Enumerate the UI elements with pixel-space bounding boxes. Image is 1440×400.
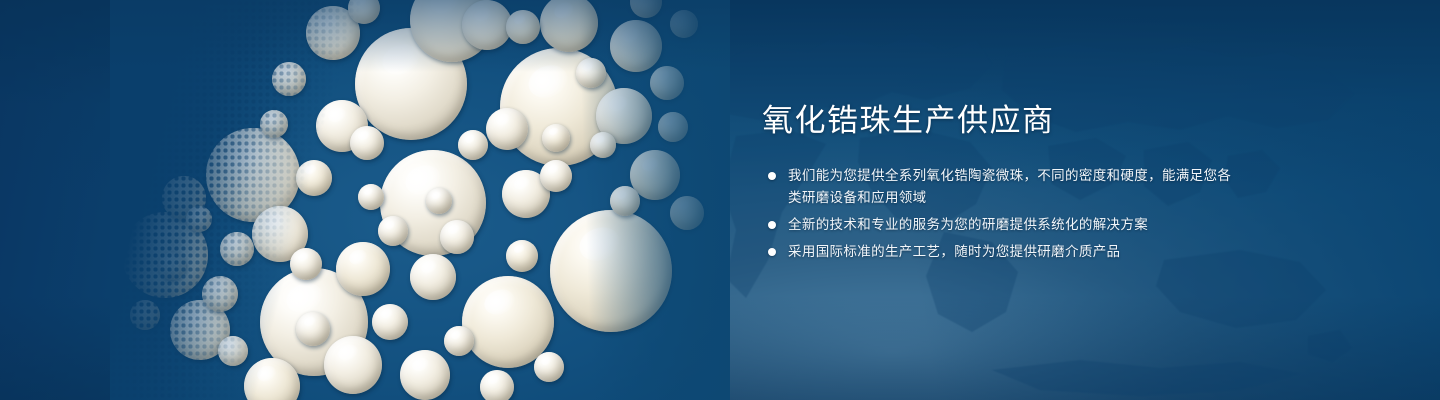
bullet-dot-icon	[768, 221, 776, 229]
bullet-dot-icon	[768, 172, 776, 180]
feature-text: 采用国际标准的生产工艺，随时为您提供研磨介质产品	[788, 241, 1232, 263]
feature-item: 我们能为您提供全系列氧化锆陶瓷微珠，不同的密度和硬度，能满足您各类研磨设备和应用…	[762, 165, 1232, 209]
zirconia-beads-photo	[110, 0, 730, 400]
feature-text: 全新的技术和专业的服务为您的研磨提供系统化的解决方案	[788, 214, 1232, 236]
feature-text: 我们能为您提供全系列氧化锆陶瓷微珠，不同的密度和硬度，能满足您各类研磨设备和应用…	[788, 165, 1232, 209]
banner-content: 氧化锆珠生产供应商 我们能为您提供全系列氧化锆陶瓷微珠，不同的密度和硬度，能满足…	[762, 104, 1232, 268]
photo-fade-top	[110, 0, 730, 400]
feature-item: 采用国际标准的生产工艺，随时为您提供研磨介质产品	[762, 241, 1232, 263]
feature-item: 全新的技术和专业的服务为您的研磨提供系统化的解决方案	[762, 214, 1232, 236]
feature-list: 我们能为您提供全系列氧化锆陶瓷微珠，不同的密度和硬度，能满足您各类研磨设备和应用…	[762, 165, 1232, 263]
banner-headline: 氧化锆珠生产供应商	[762, 104, 1232, 139]
bullet-dot-icon	[768, 248, 776, 256]
hero-banner: 氧化锆珠生产供应商 我们能为您提供全系列氧化锆陶瓷微珠，不同的密度和硬度，能满足…	[0, 0, 1440, 400]
